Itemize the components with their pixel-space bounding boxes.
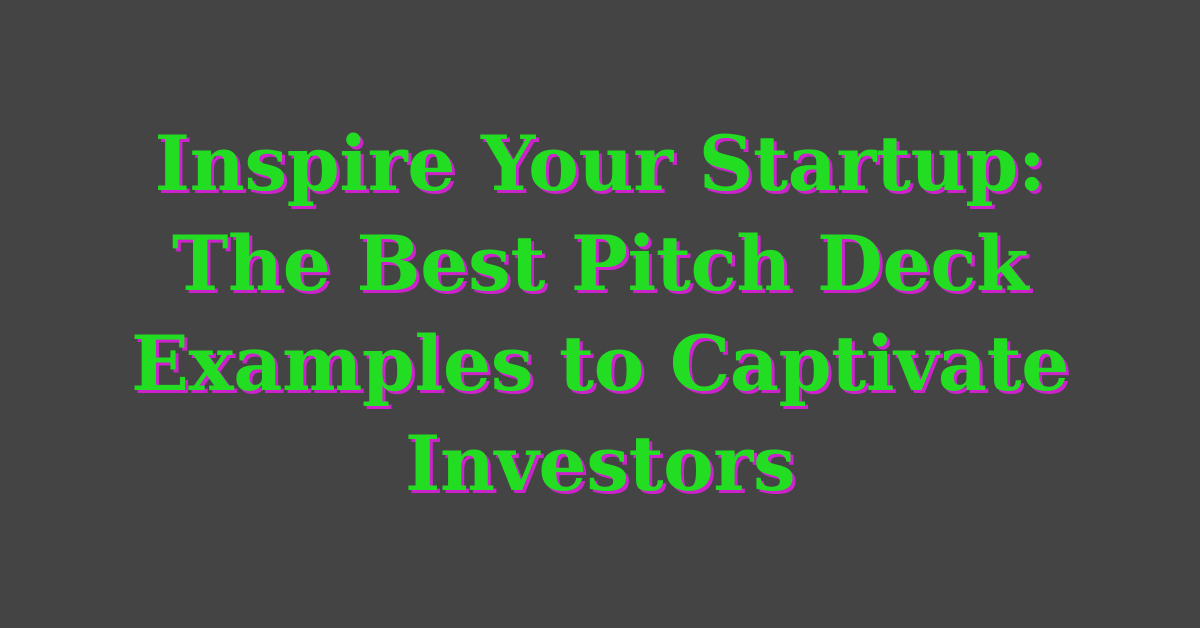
banner-canvas: Inspire Your Startup: The Best Pitch Dec… [0, 0, 1200, 628]
headline-line-4: Investors [35, 414, 1165, 514]
headline-line-2: The Best Pitch Deck [35, 214, 1165, 314]
page-title: Inspire Your Startup: The Best Pitch Dec… [35, 114, 1165, 514]
headline-line-3: Examples to Captivate [35, 314, 1165, 414]
headline-line-1: Inspire Your Startup: [35, 114, 1165, 214]
